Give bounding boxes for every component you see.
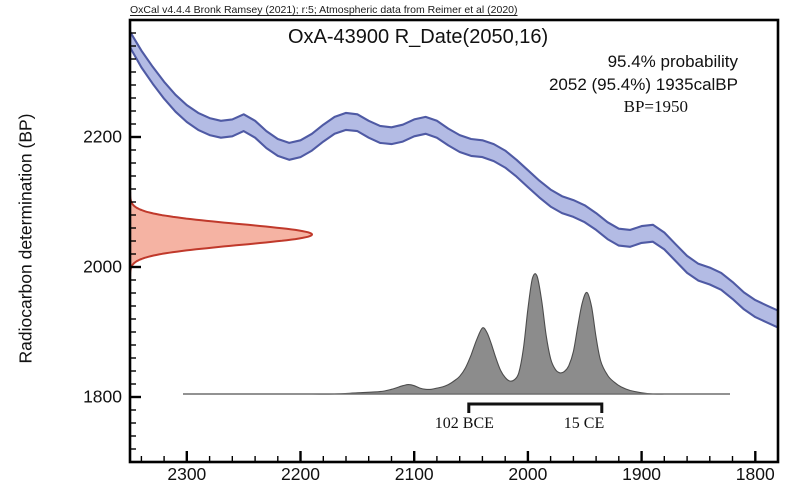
y-axis-title: Radiocarbon determination (BP) [16, 84, 37, 394]
x-tick-label: 1900 [597, 464, 687, 485]
x-tick-label: 2100 [369, 464, 459, 485]
range-end-label: 15 CE [564, 415, 604, 433]
y-tick-label: 2200 [48, 127, 122, 148]
sample-title-block: OxA-43900 R_Date(2050,16) 95.4% probabil… [280, 26, 750, 117]
x-tick-label: 1800 [710, 464, 786, 485]
range-start-label: 102 BCE [435, 415, 494, 433]
calibrated-range-label: 2052 (95.4%) 1935calBP [280, 75, 750, 95]
x-tick-label: 2300 [142, 464, 232, 485]
oxcal-credit-line: OxCal v4.4.4 Bronk Ramsey (2021); r:5; A… [130, 4, 518, 16]
x-tick-label: 2200 [256, 464, 346, 485]
probability-label: 95.4% probability [280, 52, 750, 72]
sample-id-label: OxA-43900 R_Date(2050,16) [280, 26, 750, 49]
x-tick-label: 2000 [483, 464, 573, 485]
bp-datum-label: BP=1950 [280, 97, 750, 117]
y-tick-label: 1800 [48, 387, 122, 408]
y-tick-label: 2000 [48, 257, 122, 278]
